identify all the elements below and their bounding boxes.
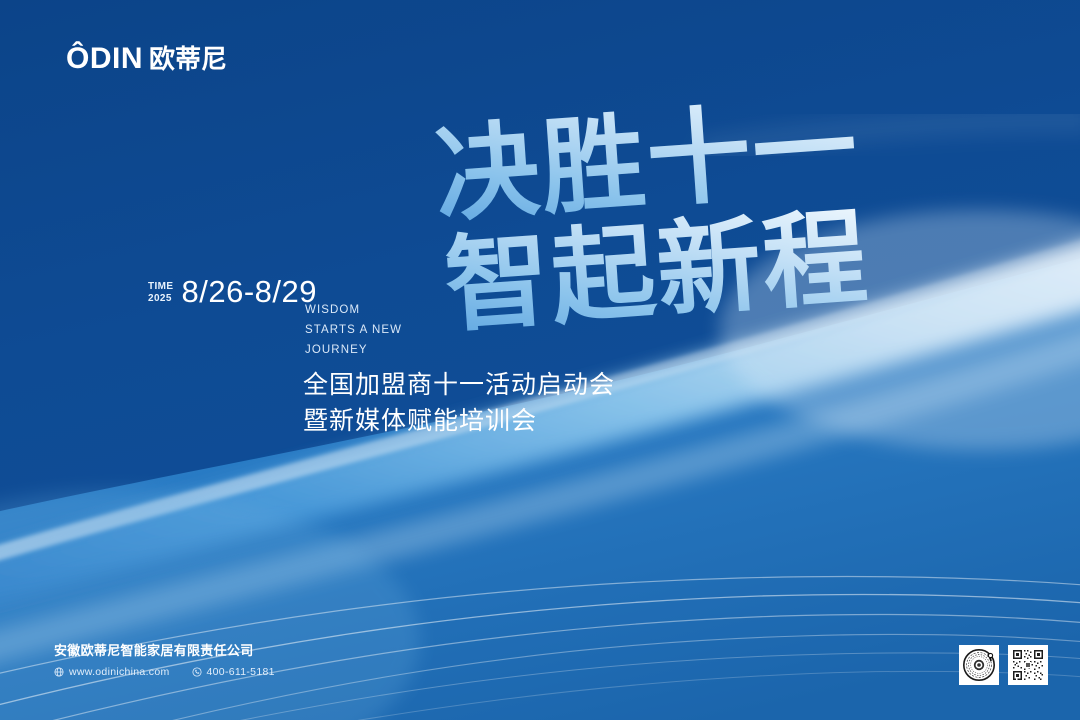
phone-item[interactable]: 400-611-5181 — [192, 666, 275, 678]
event-date-block: TIME 2025 8/26-8/29 — [148, 276, 317, 307]
phone-text: 400-611-5181 — [207, 666, 275, 678]
time-label-year: 2025 — [148, 293, 174, 305]
wechat-round-qr-code[interactable] — [959, 645, 999, 685]
subtitle-line-1: 全国加盟商十一活动启动会 — [303, 368, 615, 404]
event-date-range: 8/26-8/29 — [182, 276, 318, 307]
subtitle-line-2: 暨新媒体赋能培训会 — [303, 404, 615, 440]
qr-code-group — [959, 645, 1048, 685]
square-qr-code[interactable] — [1008, 645, 1048, 685]
tagline-line-1: WISDOM — [305, 301, 402, 321]
time-label: TIME 2025 — [148, 278, 174, 305]
tagline-line-2: STARTS A NEW — [305, 321, 402, 341]
website-text: www.odinichina.com — [69, 666, 170, 678]
phone-icon — [192, 667, 202, 677]
time-label-top: TIME — [148, 281, 174, 293]
event-subtitle: 全国加盟商十一活动启动会 暨新媒体赋能培训会 — [303, 368, 615, 439]
tagline-line-3: JOURNEY — [305, 341, 402, 361]
contact-row: www.odinichina.com 400-611-5181 — [54, 666, 275, 678]
globe-icon — [54, 667, 64, 677]
headline-calligraphy: 决胜十一 智起新程 — [430, 108, 930, 348]
company-name: 安徽欧蒂尼智能家居有限责任公司 — [54, 643, 275, 660]
logo-chinese-text: 欧蒂尼 — [149, 46, 227, 72]
logo-latin-text: ÔDIN — [66, 44, 143, 74]
event-poster: ÔDIN 欧蒂尼 决胜十一 智起新程 TIME 2025 8/26-8/29 W… — [0, 0, 1080, 720]
website-item[interactable]: www.odinichina.com — [54, 666, 170, 678]
english-tagline: WISDOM STARTS A NEW JOURNEY — [305, 301, 402, 360]
brand-logo: ÔDIN 欧蒂尼 — [66, 44, 227, 74]
footer-info: 安徽欧蒂尼智能家居有限责任公司 www.odinichina.com 400-6… — [54, 643, 275, 678]
